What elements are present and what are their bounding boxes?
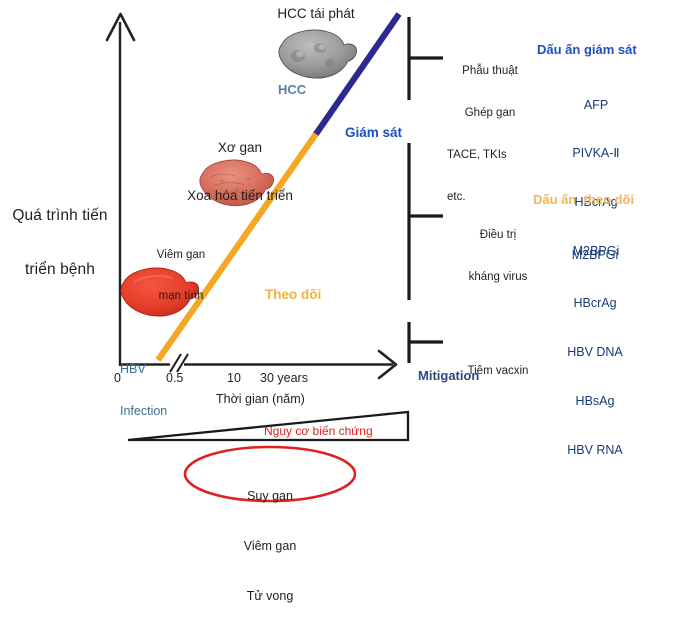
monitoring-markers-list: M2BPGi HBcrAg HBV DNA HBsAg HBV RNA [533, 214, 657, 490]
treatment-antiviral-line-0: Điều trị [457, 228, 539, 242]
treatment-antiviral-line-1: kháng virus [457, 270, 539, 284]
outcome-item: Viêm gan [205, 538, 335, 555]
stage-label-chronic-hepatitis-line1: Viêm gan [135, 249, 227, 263]
phase-label-surveillance: Giám sát [345, 125, 402, 141]
outcome-list: Suy gan Viêm gan Tử vong [205, 454, 335, 638]
y-axis-title-line1: Quá trình tiến [6, 207, 114, 225]
outcome-item: Tử vong [205, 588, 335, 605]
x-tick-0: 0 [114, 371, 121, 386]
monitoring-marker-item: HBV DNA [533, 344, 657, 360]
treatment-vaccination: Tiêm vacxin [455, 336, 541, 406]
phase-label-monitoring: Theo dõi [265, 287, 321, 303]
surveillance-segment [316, 14, 399, 134]
stage-label-hbv-line1: HBV [120, 362, 167, 376]
stage-label-chronic-hepatitis-line2: mạn tính [135, 290, 227, 304]
stage-label-cirrhosis-line1: Xơ gan [160, 140, 320, 156]
x-tick-30-years: 30 years [260, 371, 308, 386]
treatment-surgery-line-2: TACE, TKIs [447, 148, 533, 162]
stage-label-hbv-infection: HBV Infection [120, 334, 167, 446]
treatment-antiviral: Điều trị kháng virus [457, 200, 539, 312]
risk-label: Nguy cơ biến chứng [264, 424, 373, 438]
surveillance-markers-title: Dấu ấn giám sát [537, 42, 637, 57]
surveillance-marker-item: AFP [537, 97, 655, 113]
treatment-vaccination-line-0: Tiêm vacxin [455, 364, 541, 378]
treatment-surgery-line-1: Ghép gan [447, 106, 533, 120]
axis-break-mark [170, 354, 188, 372]
monitoring-marker-item: M2BPGi [533, 247, 657, 263]
stage-label-cirrhosis: Xơ gan Xoa hóa tiến triển [160, 108, 320, 235]
surveillance-marker-item: PIVKA-Ⅱ [537, 145, 655, 161]
y-axis-title: Quá trình tiến triển bệnh [6, 170, 114, 316]
monitoring-marker-item: HBV RNA [533, 442, 657, 458]
stage-label-chronic-hepatitis: Viêm gan mạn tính [135, 222, 227, 331]
monitoring-markers-title: Dấu ấn theo dõi [533, 192, 634, 207]
stage-label-hbv-line2: Infection [120, 404, 167, 418]
monitoring-marker-item: HBcrAg [533, 295, 657, 311]
liver-hcc-icon [279, 30, 357, 78]
phase-brackets [408, 17, 443, 363]
diagram-canvas: Quá trình tiến triển bệnh HCC tái phát H… [0, 0, 684, 505]
monitoring-marker-item: HBsAg [533, 393, 657, 409]
x-axis-caption: Thời gian (năm) [216, 392, 305, 407]
stage-label-hcc-recurrence: HCC tái phát [255, 6, 377, 22]
stage-label-cirrhosis-line2: Xoa hóa tiến triển [160, 188, 320, 204]
x-tick-10: 10 [227, 371, 241, 386]
stage-label-hcc: HCC [278, 82, 306, 97]
x-tick-0-5: 0.5 [166, 371, 183, 386]
y-axis-title-line2: triển bệnh [6, 261, 114, 279]
outcome-item: Suy gan [205, 488, 335, 505]
treatment-surgery-line-0: Phẫu thuật [447, 64, 533, 78]
